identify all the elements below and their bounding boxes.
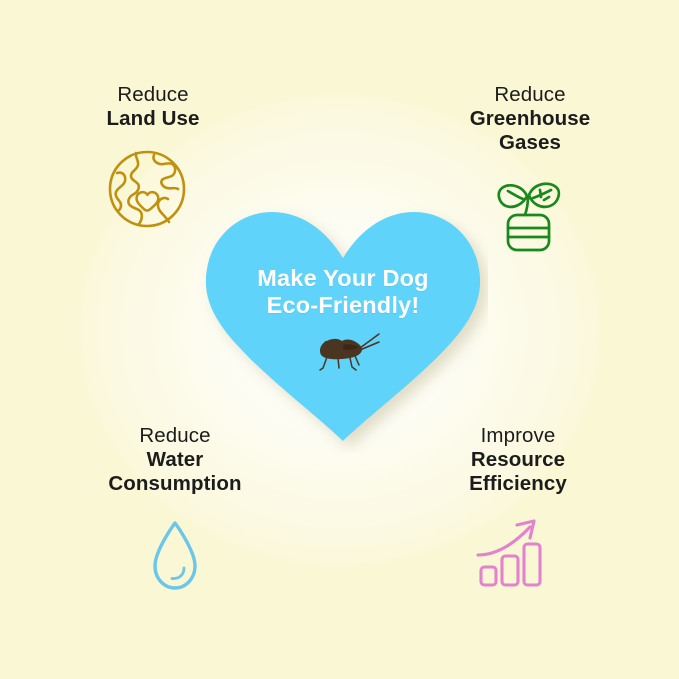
central-heart-callout: Make Your Dog Eco-Friendly!	[198, 203, 488, 453]
benefit-strong-resource-efficiency-1: Resource	[393, 448, 643, 472]
benefit-lead-water-consumption: Reduce	[50, 424, 300, 448]
benefit-card-resource-efficiency: Improve Resource Efficiency	[393, 424, 643, 596]
heart-headline-line-2: Eco-Friendly!	[198, 292, 488, 319]
benefit-label-greenhouse-gases: Reduce Greenhouse Gases	[405, 83, 655, 155]
benefit-strong-greenhouse-gases-2: Gases	[405, 131, 655, 155]
benefit-strong-water-consumption-2: Consumption	[50, 472, 300, 496]
heart-headline-line-1: Make Your Dog	[198, 265, 488, 292]
benefit-card-water-consumption: Reduce Water Consumption	[50, 424, 300, 600]
benefit-strong-land-use: Land Use	[28, 107, 278, 131]
benefit-lead-land-use: Reduce	[28, 83, 278, 107]
benefit-strong-greenhouse-gases-1: Greenhouse	[405, 107, 655, 131]
benefit-label-resource-efficiency: Improve Resource Efficiency	[393, 424, 643, 496]
water-droplet-icon	[50, 512, 300, 600]
benefit-strong-resource-efficiency-2: Efficiency	[393, 472, 643, 496]
benefit-lead-greenhouse-gases: Reduce	[405, 83, 655, 107]
growth-chart-icon	[389, 508, 639, 596]
benefit-lead-resource-efficiency: Improve	[393, 424, 643, 448]
heart-shape	[198, 203, 488, 453]
benefit-label-land-use: Reduce Land Use	[28, 83, 278, 131]
benefit-label-water-consumption: Reduce Water Consumption	[50, 424, 300, 496]
infographic-poster: Reduce Land Use Reduce Greenhouse Gases	[0, 0, 679, 679]
heart-headline: Make Your Dog Eco-Friendly!	[198, 265, 488, 319]
cricket-icon	[198, 329, 488, 382]
benefit-strong-water-consumption-1: Water	[50, 448, 300, 472]
